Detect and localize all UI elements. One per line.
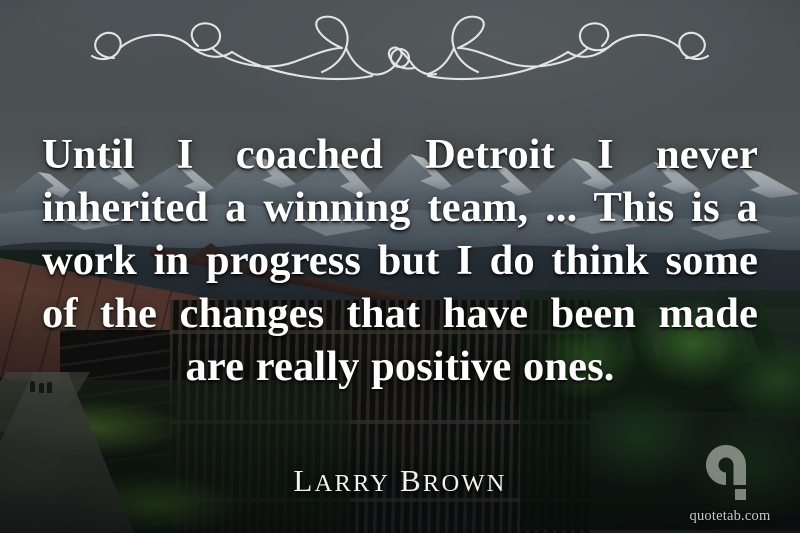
site-url-label: quotetab.com — [674, 508, 786, 525]
site-watermark[interactable]: quotetab.com — [674, 443, 786, 527]
author-first-rest: ARRY — [315, 470, 391, 497]
author-last-rest: ROWN — [423, 470, 507, 497]
quote-card: Until I coached Detroit I never inherite… — [0, 0, 800, 533]
card-content: Until I coached Detroit I never inherite… — [0, 0, 800, 533]
ornamental-flourish-icon — [80, 14, 720, 84]
author-first-initial: L — [293, 463, 314, 498]
quotetab-q-logo-icon — [706, 445, 754, 501]
quote-text: Until I coached Detroit I never inherite… — [42, 128, 758, 393]
author-last-initial: B — [400, 463, 423, 498]
